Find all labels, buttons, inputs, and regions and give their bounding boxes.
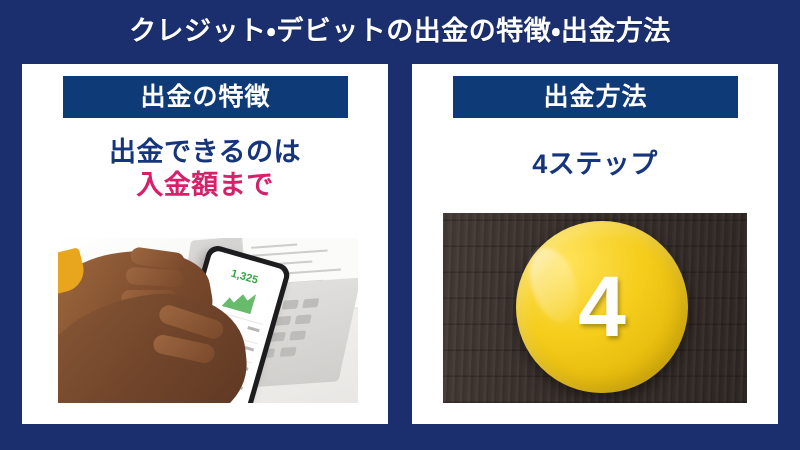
- app-chart-icon: [222, 285, 257, 314]
- page-title: クレジット・デビットの出金の特徴・出金方法: [129, 18, 671, 45]
- panel-left-subtitle-line1: 出金できるのは: [22, 136, 388, 169]
- yellow-plate-shape: 4: [516, 221, 688, 393]
- panel-withdrawal-features: 出金の特徴 出金できるのは 入金額まで: [22, 64, 388, 424]
- app-balance-amount: 1,325: [206, 261, 282, 293]
- banner-title-bar: クレジット・デビットの出金の特徴・出金方法: [0, 0, 800, 62]
- yellow-plate-number-four-photo: 4: [443, 213, 747, 403]
- panel-left-subtitle-line2: 入金額まで: [22, 169, 388, 202]
- panel-withdrawal-method: 出金方法 4ステップ 4: [412, 64, 778, 424]
- panel-right-subtitle: 4ステップ: [412, 148, 778, 181]
- panel-right-header-label: 出金方法: [543, 85, 647, 110]
- panel-left-header: 出金の特徴: [63, 76, 348, 118]
- panel-left-subtitle: 出金できるのは 入金額まで: [22, 136, 388, 202]
- banner-root: クレジット・デビットの出金の特徴・出金方法 出金の特徴 出金できるのは 入金額ま…: [0, 0, 800, 450]
- smartphone-finance-app-photo: 1,325: [58, 238, 358, 403]
- panel-right-header: 出金方法: [453, 76, 738, 118]
- panel-left-header-label: 出金の特徴: [140, 85, 270, 110]
- panel-right-subtitle-line1: 4ステップ: [412, 148, 778, 181]
- plate-number-label: 4: [516, 264, 688, 350]
